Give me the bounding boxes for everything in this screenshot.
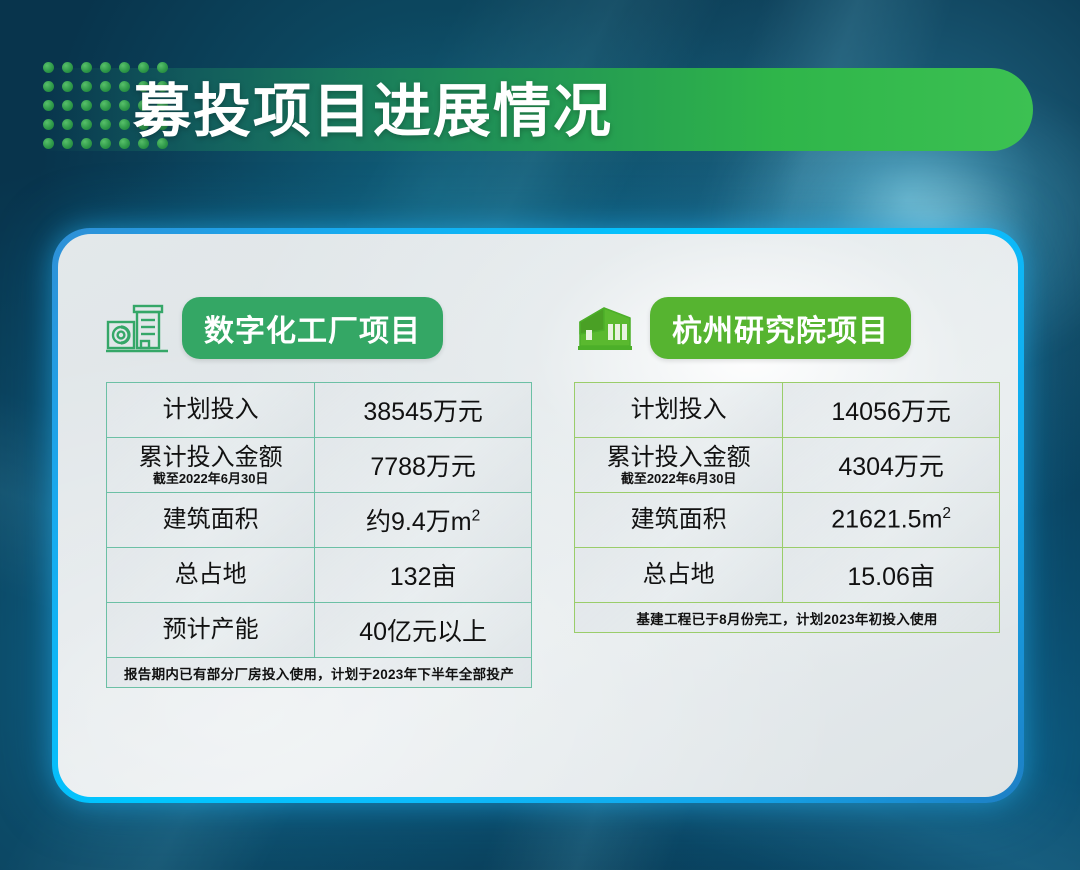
table-row: 建筑面积 约9.4万m2 (107, 493, 532, 548)
row-label-text: 累计投入金额 (607, 444, 751, 471)
project-column-digital-factory: 数字化工厂项目 计划投入 38545万元 累计投入金额 截至2022年6月30日… (106, 234, 532, 688)
dot (62, 62, 73, 73)
content-card: 数字化工厂项目 计划投入 38545万元 累计投入金额 截至2022年6月30日… (52, 228, 1024, 803)
row-value: 21621.5m2 (783, 493, 1000, 548)
dot (81, 81, 92, 92)
table-row: 计划投入 14056万元 (575, 383, 1000, 438)
row-value: 4304万元 (783, 438, 1000, 493)
dot (62, 119, 73, 130)
dot (119, 81, 130, 92)
dot (43, 100, 54, 111)
table-note-row: 基建工程已于8月份完工，计划2023年初投入使用 (575, 603, 1000, 633)
dot (81, 62, 92, 73)
row-label-text: 累计投入金额 (139, 444, 283, 471)
dot (100, 81, 111, 92)
project-title-hangzhou-institute: 杭州研究院项目 (650, 297, 911, 359)
row-label: 累计投入金额 截至2022年6月30日 (107, 438, 315, 493)
page-header: 募投项目进展情况 (0, 0, 1080, 190)
row-value: 15.06亩 (783, 548, 1000, 603)
dot (43, 62, 54, 73)
dot (100, 100, 111, 111)
dot (62, 100, 73, 111)
factory-icon (106, 300, 168, 356)
dot (119, 100, 130, 111)
row-value: 40亿元以上 (315, 603, 532, 658)
dot (81, 100, 92, 111)
project-table-digital-factory: 计划投入 38545万元 累计投入金额 截至2022年6月30日 7788万元 … (106, 382, 532, 688)
row-value: 14056万元 (783, 383, 1000, 438)
dot (119, 138, 130, 149)
table-row: 总占地 132亩 (107, 548, 532, 603)
row-value: 7788万元 (315, 438, 532, 493)
content-card-inner: 数字化工厂项目 计划投入 38545万元 累计投入金额 截至2022年6月30日… (58, 234, 1018, 797)
row-label: 预计产能 (107, 603, 315, 658)
dot (100, 138, 111, 149)
table-row: 建筑面积 21621.5m2 (575, 493, 1000, 548)
row-label: 计划投入 (107, 383, 315, 438)
project-table-hangzhou-institute: 计划投入 14056万元 累计投入金额 截至2022年6月30日 4304万元 … (574, 382, 1000, 633)
project-header-digital-factory: 数字化工厂项目 (106, 292, 532, 364)
table-note-row: 报告期内已有部分厂房投入使用，计划于2023年下半年全部投产 (107, 658, 532, 688)
row-value: 132亩 (315, 548, 532, 603)
row-value: 约9.4万m2 (315, 493, 532, 548)
project-note-hangzhou-institute: 基建工程已于8月份完工，计划2023年初投入使用 (575, 603, 1000, 633)
dot (43, 138, 54, 149)
dot (119, 62, 130, 73)
row-label: 建筑面积 (107, 493, 315, 548)
dot (43, 119, 54, 130)
row-value: 38545万元 (315, 383, 532, 438)
row-label: 计划投入 (575, 383, 783, 438)
dot (81, 138, 92, 149)
project-note-digital-factory: 报告期内已有部分厂房投入使用，计划于2023年下半年全部投产 (107, 658, 532, 688)
table-row: 累计投入金额 截至2022年6月30日 4304万元 (575, 438, 1000, 493)
row-sublabel: 截至2022年6月30日 (575, 472, 782, 486)
dot (62, 81, 73, 92)
dot (81, 119, 92, 130)
table-row: 累计投入金额 截至2022年6月30日 7788万元 (107, 438, 532, 493)
research-building-icon (574, 300, 636, 356)
project-column-hangzhou-institute: 杭州研究院项目 计划投入 14056万元 累计投入金额 截至2022年6月30日… (574, 234, 1000, 633)
dot (43, 81, 54, 92)
row-sublabel: 截至2022年6月30日 (107, 472, 314, 486)
table-row: 预计产能 40亿元以上 (107, 603, 532, 658)
project-header-hangzhou-institute: 杭州研究院项目 (574, 292, 1000, 364)
dot (62, 138, 73, 149)
table-row: 总占地 15.06亩 (575, 548, 1000, 603)
dot (119, 119, 130, 130)
page-title: 募投项目进展情况 (133, 72, 613, 152)
row-label: 总占地 (107, 548, 315, 603)
dot (100, 62, 111, 73)
row-label: 总占地 (575, 548, 783, 603)
dot (100, 119, 111, 130)
row-label: 建筑面积 (575, 493, 783, 548)
table-row: 计划投入 38545万元 (107, 383, 532, 438)
project-title-digital-factory: 数字化工厂项目 (182, 297, 443, 359)
row-label: 累计投入金额 截至2022年6月30日 (575, 438, 783, 493)
